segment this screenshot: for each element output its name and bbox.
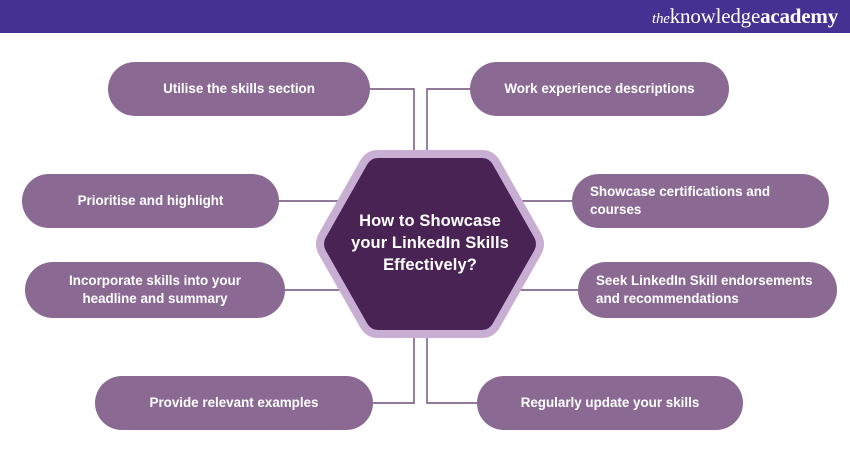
node-regularly-update[interactable]: Regularly update your skills <box>477 376 743 430</box>
node-label-prioritise-highlight: Prioritise and highlight <box>78 192 224 211</box>
node-seek-endorsements[interactable]: Seek LinkedIn Skill endorsements and rec… <box>578 262 837 318</box>
node-showcase-certifications[interactable]: Showcase certifications and courses <box>572 174 829 228</box>
node-work-experience[interactable]: Work experience descriptions <box>470 62 729 116</box>
node-label-work-experience: Work experience descriptions <box>504 80 694 99</box>
node-prioritise-highlight[interactable]: Prioritise and highlight <box>22 174 279 228</box>
diagram-canvas: theknowledgeacademy How to Showc <box>0 0 850 450</box>
node-label-incorporate-headline: Incorporate skills into your headline an… <box>45 272 265 309</box>
center-hexagon: How to Showcase your LinkedIn Skills Eff… <box>316 150 544 338</box>
node-label-showcase-certifications: Showcase certifications and courses <box>590 183 811 220</box>
center-hexagon-title: How to Showcase your LinkedIn Skills Eff… <box>316 150 544 338</box>
node-incorporate-headline[interactable]: Incorporate skills into your headline an… <box>25 262 285 318</box>
node-label-regularly-update: Regularly update your skills <box>521 394 700 413</box>
node-utilise-skills-section[interactable]: Utilise the skills section <box>108 62 370 116</box>
node-provide-examples[interactable]: Provide relevant examples <box>95 376 373 430</box>
node-label-seek-endorsements: Seek LinkedIn Skill endorsements and rec… <box>596 272 819 309</box>
node-label-provide-examples: Provide relevant examples <box>150 394 319 413</box>
node-label-utilise-skills-section: Utilise the skills section <box>163 80 315 99</box>
